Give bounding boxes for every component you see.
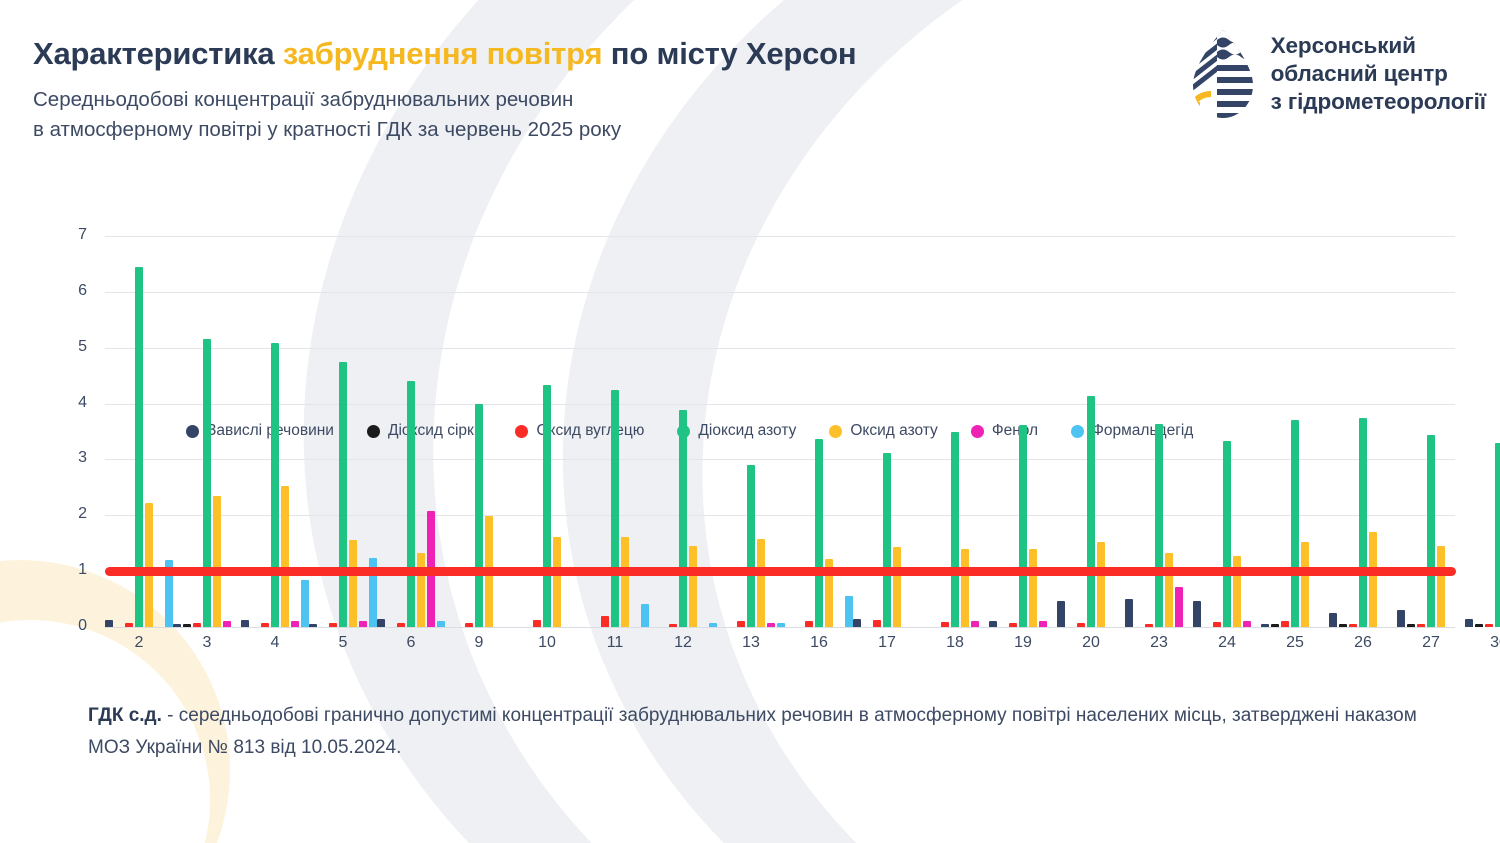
bar[interactable] bbox=[961, 549, 969, 627]
bar[interactable] bbox=[553, 537, 561, 627]
bar[interactable] bbox=[989, 621, 997, 627]
bar[interactable] bbox=[815, 439, 823, 627]
bar-group-day-30: 30 bbox=[1465, 236, 1500, 627]
organisation-logo: Херсонський обласний центр з гідрометеор… bbox=[1183, 28, 1486, 120]
bar[interactable] bbox=[1465, 619, 1473, 627]
footnote: ГДК с.д. - середньодобові гранично допус… bbox=[88, 700, 1458, 764]
bar[interactable] bbox=[1165, 553, 1173, 627]
page-title: Характеристика забруднення повітря по мі… bbox=[33, 36, 856, 72]
bar[interactable] bbox=[1437, 546, 1445, 627]
bar[interactable] bbox=[883, 453, 891, 627]
x-axis-tick-label: 3 bbox=[173, 634, 241, 652]
x-axis-tick-label: 2 bbox=[105, 634, 173, 652]
infographic-page: Характеристика забруднення повітря по мі… bbox=[0, 0, 1500, 843]
x-axis-tick-label: 23 bbox=[1125, 634, 1193, 652]
bar[interactable] bbox=[339, 362, 347, 627]
bar[interactable] bbox=[1175, 587, 1183, 627]
x-axis-tick-label: 24 bbox=[1193, 634, 1261, 652]
x-axis-tick-label: 25 bbox=[1261, 634, 1329, 652]
bar[interactable] bbox=[329, 623, 337, 627]
x-axis-tick-label: 6 bbox=[377, 634, 445, 652]
bar[interactable] bbox=[621, 537, 629, 627]
bar[interactable] bbox=[1417, 624, 1425, 627]
footnote-text: - середньодобові гранично допустимі конц… bbox=[88, 705, 1417, 758]
water-droplet-logo-icon bbox=[1183, 28, 1257, 120]
bar[interactable] bbox=[747, 465, 755, 627]
bar[interactable] bbox=[893, 547, 901, 627]
bar[interactable] bbox=[1339, 624, 1347, 627]
bar[interactable] bbox=[689, 546, 697, 627]
bar[interactable] bbox=[407, 381, 415, 627]
bar[interactable] bbox=[173, 624, 181, 627]
bar[interactable] bbox=[475, 404, 483, 627]
footnote-term: ГДК с.д. bbox=[88, 705, 162, 726]
bar[interactable] bbox=[183, 624, 191, 627]
bar[interactable] bbox=[397, 623, 405, 627]
y-axis-tick-label: 0 bbox=[47, 617, 87, 635]
air-pollution-bar-chart: Завислі речовиниДіоксид сіркиОксид вугле… bbox=[0, 228, 1500, 648]
bar[interactable] bbox=[1057, 601, 1065, 627]
title-highlight: забруднення повітря bbox=[283, 36, 603, 71]
bar[interactable] bbox=[359, 621, 367, 627]
bar[interactable] bbox=[125, 623, 133, 627]
bar[interactable] bbox=[601, 616, 609, 627]
x-axis-tick-label: 26 bbox=[1329, 634, 1397, 652]
bar[interactable] bbox=[309, 624, 317, 627]
x-axis-tick-label: 12 bbox=[649, 634, 717, 652]
y-axis-tick-label: 6 bbox=[47, 282, 87, 300]
bar[interactable] bbox=[1213, 622, 1221, 627]
x-axis-tick-label: 5 bbox=[309, 634, 377, 652]
bar[interactable] bbox=[767, 623, 775, 627]
plot-area: 01234567 2345691011121316171819202324252… bbox=[105, 236, 1455, 627]
bar[interactable] bbox=[271, 343, 279, 627]
x-axis-tick-label: 20 bbox=[1057, 634, 1125, 652]
bar[interactable] bbox=[465, 623, 473, 627]
bar[interactable] bbox=[737, 621, 745, 627]
bar[interactable] bbox=[1039, 621, 1047, 627]
bar[interactable] bbox=[543, 385, 551, 627]
bar[interactable] bbox=[1243, 621, 1251, 627]
logo-text: Херсонський обласний центр з гідрометеор… bbox=[1271, 32, 1486, 116]
x-axis-tick-label: 10 bbox=[513, 634, 581, 652]
bar[interactable] bbox=[757, 539, 765, 627]
bar[interactable] bbox=[281, 486, 289, 627]
bar[interactable] bbox=[679, 410, 687, 627]
bar[interactable] bbox=[709, 623, 717, 627]
bar[interactable] bbox=[417, 553, 425, 627]
x-axis-line bbox=[105, 627, 1455, 628]
bar[interactable] bbox=[1485, 624, 1493, 627]
bar[interactable] bbox=[1009, 623, 1017, 627]
x-axis-tick-label: 27 bbox=[1397, 634, 1465, 652]
mpc-threshold-line bbox=[105, 567, 1456, 576]
bar[interactable] bbox=[1427, 435, 1435, 627]
title-part-1: Характеристика bbox=[33, 36, 283, 71]
x-axis-tick-label: 19 bbox=[989, 634, 1057, 652]
bar[interactable] bbox=[1359, 418, 1367, 627]
x-axis-tick-label: 4 bbox=[241, 634, 309, 652]
bar[interactable] bbox=[845, 596, 853, 627]
bar[interactable] bbox=[941, 622, 949, 627]
x-axis-tick-label: 9 bbox=[445, 634, 513, 652]
bar[interactable] bbox=[105, 620, 113, 627]
title-part-2: по місту Херсон bbox=[602, 36, 856, 71]
bar[interactable] bbox=[1261, 624, 1269, 627]
bar[interactable] bbox=[873, 620, 881, 627]
bar[interactable] bbox=[777, 623, 785, 627]
bar[interactable] bbox=[1329, 613, 1337, 627]
y-axis-tick-label: 5 bbox=[47, 338, 87, 356]
bar[interactable] bbox=[1475, 624, 1483, 627]
bar[interactable] bbox=[223, 621, 231, 627]
bar[interactable] bbox=[951, 432, 959, 628]
bar[interactable] bbox=[1291, 420, 1299, 627]
x-axis-tick-label: 13 bbox=[717, 634, 785, 652]
bar[interactable] bbox=[1281, 621, 1289, 627]
bar[interactable] bbox=[1155, 424, 1163, 627]
bar[interactable] bbox=[213, 496, 221, 627]
bar[interactable] bbox=[1271, 624, 1279, 627]
bar[interactable] bbox=[1029, 549, 1037, 627]
x-axis-tick-label: 30 bbox=[1465, 634, 1500, 652]
bar[interactable] bbox=[1495, 443, 1500, 627]
bar[interactable] bbox=[853, 619, 861, 627]
bar[interactable] bbox=[261, 623, 269, 627]
bar[interactable] bbox=[291, 621, 299, 627]
bar[interactable] bbox=[1087, 396, 1095, 627]
bar[interactable] bbox=[349, 540, 357, 627]
bar[interactable] bbox=[971, 621, 979, 627]
header: Характеристика забруднення повітря по мі… bbox=[0, 0, 1500, 175]
bar[interactable] bbox=[301, 580, 309, 627]
bar[interactable] bbox=[611, 390, 619, 627]
bar[interactable] bbox=[193, 623, 201, 627]
bar[interactable] bbox=[1145, 624, 1153, 627]
bar[interactable] bbox=[641, 604, 649, 627]
bar[interactable] bbox=[1407, 624, 1415, 627]
bar[interactable] bbox=[1301, 542, 1309, 627]
bar[interactable] bbox=[1369, 532, 1377, 627]
bar[interactable] bbox=[1397, 610, 1405, 627]
x-axis-tick-label: 17 bbox=[853, 634, 921, 652]
bar[interactable] bbox=[805, 621, 813, 627]
bar[interactable] bbox=[1223, 441, 1231, 627]
y-axis-tick-label: 2 bbox=[47, 505, 87, 523]
bar[interactable] bbox=[203, 339, 211, 627]
y-axis-tick-label: 3 bbox=[47, 449, 87, 467]
y-axis-tick-label: 4 bbox=[47, 394, 87, 412]
bar[interactable] bbox=[669, 624, 677, 627]
x-axis-tick-label: 11 bbox=[581, 634, 649, 652]
x-axis-tick-label: 16 bbox=[785, 634, 853, 652]
bar[interactable] bbox=[1349, 624, 1357, 627]
bar[interactable] bbox=[533, 620, 541, 627]
bar[interactable] bbox=[145, 503, 153, 627]
bar[interactable] bbox=[1097, 542, 1105, 627]
y-axis-tick-label: 1 bbox=[47, 561, 87, 579]
bar[interactable] bbox=[1193, 601, 1201, 627]
x-axis-tick-label: 18 bbox=[921, 634, 989, 652]
y-axis-tick-label: 7 bbox=[47, 226, 87, 244]
bar[interactable] bbox=[377, 619, 385, 627]
bar[interactable] bbox=[1125, 599, 1133, 627]
page-subtitle: Середньодобові концентрації забруднюваль… bbox=[33, 85, 621, 145]
bar[interactable] bbox=[437, 621, 445, 627]
bar[interactable] bbox=[1077, 623, 1085, 627]
bar[interactable] bbox=[241, 620, 249, 627]
bar[interactable] bbox=[1019, 425, 1027, 627]
